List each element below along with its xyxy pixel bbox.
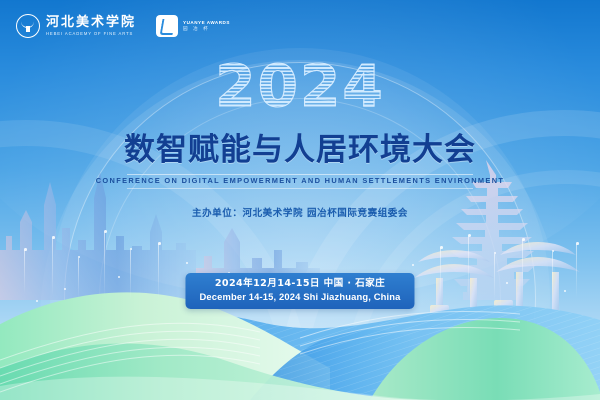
hebei-academy-en-name: HEBEI ACADEMY OF FINE ARTS [46, 32, 136, 36]
year-2024: 2024 [0, 57, 600, 115]
header-logos: 河北美术学院 HEBEI ACADEMY OF FINE ARTS YUANYE… [0, 0, 600, 52]
date-location-badge: 2024年12月14-15日 中国 · 石家庄 December 14-15, … [185, 273, 414, 309]
page-title: 数智赋能与人居环境大会 [0, 133, 600, 167]
conference-poster: 河北美术学院 HEBEI ACADEMY OF FINE ARTS YUANYE… [0, 0, 600, 400]
yuanye-award-icon [156, 15, 178, 37]
hebei-academy-logo[interactable]: 河北美术学院 HEBEI ACADEMY OF FINE ARTS [16, 14, 136, 38]
yuanye-award-en-name: YUANYE AWARDS [183, 20, 230, 25]
date-line-cn: 2024年12月14-15日 中国 · 石家庄 [199, 278, 400, 290]
title-divider-bottom [127, 188, 473, 189]
yuanye-award-logo[interactable]: YUANYE AWARDS 园 冶 杯 [156, 15, 230, 37]
year-block: 2024 [0, 57, 600, 115]
yuanye-award-cn-name: 园 冶 杯 [183, 27, 230, 32]
hebei-afa-seal-icon [16, 14, 40, 38]
page-subtitle: CONFERENCE ON DIGITAL EMPOWERMENT AND HU… [0, 176, 600, 185]
organizer-line: 主办单位：河北美术学院 园冶杯国际竞赛组委会 [0, 205, 600, 219]
title-divider-top [127, 174, 473, 175]
hebei-academy-cn-name: 河北美术学院 [46, 16, 136, 29]
date-line-en: December 14-15, 2024 Shi Jiazhuang, Chin… [199, 291, 400, 303]
